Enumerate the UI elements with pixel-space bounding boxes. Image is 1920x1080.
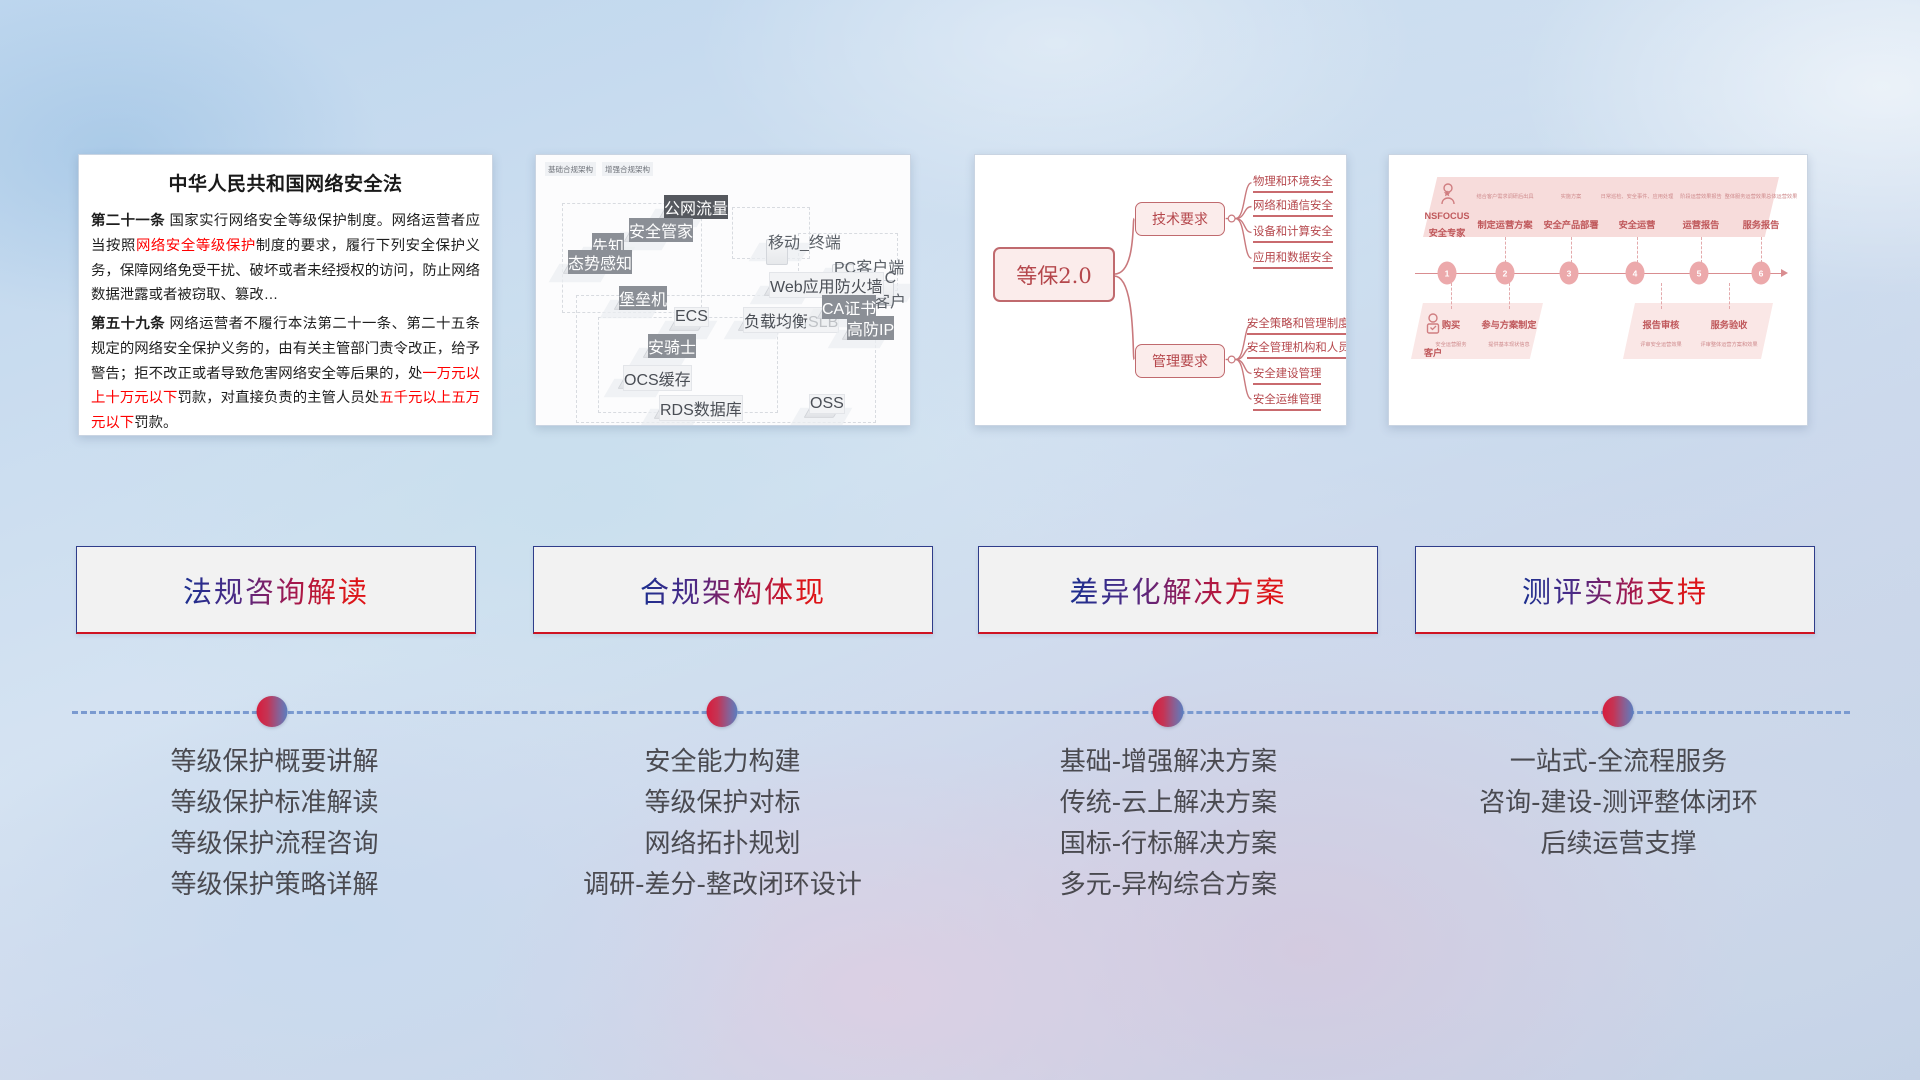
- architecture-canvas: 公网流量安全管家先知态势感知堡垒机移动_终端PC客户端PC客户端Web应用防火墙…: [536, 155, 910, 425]
- timeline-dashed-line: [72, 711, 1850, 714]
- mindmap-leaf[interactable]: 安全运维管理: [1253, 391, 1321, 411]
- section-heading-label: 合规架构体现: [640, 569, 826, 611]
- section-detail-list-2: 安全能力构建 等级保护对标 网络拓扑规划 调研-差分-整改闭环设计: [530, 742, 915, 906]
- mindmap-root-node[interactable]: 等保2.0: [993, 247, 1115, 302]
- timeline-dot-4[interactable]: [1603, 696, 1634, 727]
- law-body: 第二十一条 国家实行网络安全等级保护制度。网络运营者应当按照网络安全等级保护制度…: [79, 209, 492, 436]
- list-item: 咨询-建设-测评整体闭环: [1426, 783, 1811, 824]
- list-item: 一站式-全流程服务: [1426, 742, 1811, 783]
- architecture-node-label[interactable]: 高防IP: [847, 316, 894, 340]
- nsfocus-bottom-right-banner: [1623, 303, 1773, 359]
- timeline-arrow-icon: [1781, 269, 1788, 277]
- law-paragraph: 第五十九条 网络运营者不履行本法第二十一条、第二十五条规定的网络安全保护义务的，…: [91, 312, 480, 436]
- timeline-customer-step-title: 服务验收: [1711, 317, 1748, 331]
- law-paragraph: 第二十一条 国家实行网络安全等级保护制度。网络运营者应当按照网络安全等级保护制度…: [91, 209, 480, 308]
- section-heading-label: 法规咨询解读: [183, 569, 369, 611]
- timeline-step-subtitle: 阶段运营效果报告: [1680, 193, 1722, 200]
- architecture-node-label[interactable]: 公网流量: [664, 195, 728, 219]
- preview-cards-row: 中华人民共和国网络安全法 第二十一条 国家实行网络安全等级保护制度。网络运营者应…: [0, 154, 1920, 436]
- timeline-step-title: 安全运营: [1619, 217, 1656, 231]
- timeline-step-subtitle: 结合客户需求调研后出具: [1476, 193, 1533, 200]
- timeline-step-6[interactable]: 6: [1752, 262, 1771, 285]
- timeline-step-subtitle: 日常巡检、安全事件、应用处理: [1601, 193, 1674, 200]
- architecture-node-label[interactable]: OCS缓存: [623, 365, 692, 391]
- list-item: 等级保护流程咨询: [82, 824, 467, 865]
- list-item: 调研-差分-整改闭环设计: [530, 865, 915, 906]
- timeline-leader-line: [1505, 237, 1506, 263]
- mindmap-leaf[interactable]: 网络和通信安全: [1253, 197, 1333, 217]
- law-run-highlight: 网络安全等级保护: [136, 238, 256, 254]
- timeline-dot-3[interactable]: [1153, 696, 1184, 727]
- architecture-node-label[interactable]: 堡垒机: [619, 286, 667, 310]
- mindmap: 等保2.0 技术要求 管理要求 物理和环境安全 网络和通信安全 设备和计算安全 …: [975, 155, 1346, 425]
- law-title: 中华人民共和国网络安全法: [79, 169, 492, 196]
- timeline-leader-line: [1509, 283, 1510, 309]
- section-heading-label: 差异化解决方案: [1069, 569, 1286, 611]
- architecture-node-label[interactable]: 安骑士: [648, 334, 696, 358]
- card-dengbao-mindmap[interactable]: 等保2.0 技术要求 管理要求 物理和环境安全 网络和通信安全 设备和计算安全 …: [974, 154, 1347, 426]
- card-compliance-architecture[interactable]: 基础合规架构 增强合规架构 公网流量安全管家先知态势感知堡垒机移动_终端PC客户…: [535, 154, 911, 426]
- section-heading-label: 测评实施支持: [1522, 569, 1708, 611]
- section-detail-list-4: 一站式-全流程服务 咨询-建设-测评整体闭环 后续运营支撑: [1426, 742, 1811, 865]
- timeline-customer-step-subtitle: 评审整体运营方案和效果: [1700, 341, 1757, 348]
- architecture-node-label[interactable]: OSS: [809, 394, 845, 414]
- timeline-step-title: 安全产品部署: [1543, 217, 1598, 231]
- timeline-step-4[interactable]: 4: [1626, 262, 1645, 285]
- timeline-step-1[interactable]: 1: [1438, 262, 1457, 285]
- list-item: 传统-云上解决方案: [976, 783, 1361, 824]
- section-detail-list-1: 等级保护概要讲解 等级保护标准解读 等级保护流程咨询 等级保护策略详解: [82, 742, 467, 906]
- timeline-leader-line: [1637, 237, 1638, 263]
- timeline-step-title: 运营报告: [1683, 217, 1720, 231]
- timeline: [0, 694, 1920, 730]
- timeline-leader-line: [1451, 283, 1452, 309]
- list-item: 基础-增强解决方案: [976, 742, 1361, 783]
- architecture-node-label[interactable]: 态势感知: [568, 250, 632, 274]
- mindmap-leaf[interactable]: 安全策略和管理制度: [1247, 315, 1347, 335]
- section-heading-box-4[interactable]: 测评实施支持: [1415, 546, 1815, 634]
- card-nsfocus-service-timeline[interactable]: NSFOCUS 安全专家 客户 123456制定运营方案结合客户需求调研后出具安…: [1388, 154, 1808, 426]
- nsfocus-brand-sub: 安全专家: [1429, 225, 1466, 239]
- customer-person-icon: [1425, 313, 1441, 337]
- timeline-customer-step-title: 参与方案制定: [1481, 317, 1536, 331]
- timeline-axis: [1415, 273, 1783, 274]
- timeline-step-title: 制定运营方案: [1477, 217, 1532, 231]
- timeline-customer-step-title: 报告审核: [1643, 317, 1680, 331]
- timeline-customer-step-subtitle: 安全运营服务: [1435, 341, 1466, 348]
- section-detail-list-3: 基础-增强解决方案 传统-云上解决方案 国标-行标解决方案 多元-异构综合方案: [976, 742, 1361, 906]
- nsfocus-timeline: NSFOCUS 安全专家 客户 123456制定运营方案结合客户需求调研后出具安…: [1389, 155, 1807, 425]
- mindmap-branch-management[interactable]: 管理要求: [1135, 344, 1225, 378]
- list-item: 网络拓扑规划: [530, 824, 915, 865]
- expert-person-icon: [1439, 183, 1457, 205]
- law-run: 罚款，对直接负责的主管人员处: [177, 390, 379, 406]
- law-article-number: 第五十九条: [91, 316, 165, 332]
- mindmap-leaf[interactable]: 安全管理机构和人员: [1247, 339, 1347, 359]
- nsfocus-top-banner: [1423, 177, 1779, 237]
- list-item: 等级保护概要讲解: [82, 742, 467, 783]
- timeline-step-5[interactable]: 5: [1690, 262, 1709, 285]
- mindmap-branch-technical[interactable]: 技术要求: [1135, 202, 1225, 236]
- list-item: 等级保护对标: [530, 783, 915, 824]
- architecture-node-label[interactable]: 移动_终端: [768, 229, 841, 253]
- timeline-leader-line: [1571, 237, 1572, 263]
- timeline-customer-step-subtitle: 提供基本现状信息: [1488, 341, 1530, 348]
- timeline-leader-line: [1729, 283, 1730, 309]
- timeline-step-3[interactable]: 3: [1560, 262, 1579, 285]
- mindmap-leaf[interactable]: 应用和数据安全: [1253, 249, 1333, 269]
- timeline-step-subtitle: 实施方案: [1561, 193, 1582, 200]
- list-item: 国标-行标解决方案: [976, 824, 1361, 865]
- timeline-dot-1[interactable]: [257, 696, 288, 727]
- law-run: 罚款。: [134, 415, 177, 431]
- nsfocus-brand: NSFOCUS: [1425, 211, 1470, 221]
- section-heading-box-3[interactable]: 差异化解决方案: [978, 546, 1378, 634]
- list-item: 等级保护标准解读: [82, 783, 467, 824]
- timeline-step-title: 服务报告: [1743, 217, 1780, 231]
- architecture-node-label[interactable]: RDS数据库: [659, 395, 743, 421]
- architecture-node-label[interactable]: 安全管家: [629, 218, 693, 242]
- list-item: 多元-异构综合方案: [976, 865, 1361, 906]
- timeline-leader-line: [1761, 237, 1762, 263]
- mindmap-leaf[interactable]: 设备和计算安全: [1253, 223, 1333, 243]
- section-heading-box-2[interactable]: 合规架构体现: [533, 546, 933, 634]
- mindmap-leaf[interactable]: 安全建设管理: [1253, 365, 1321, 385]
- timeline-step-2[interactable]: 2: [1496, 262, 1515, 285]
- architecture-diagram: 基础合规架构 增强合规架构 公网流量安全管家先知态势感知堡垒机移动_终端PC客户…: [536, 155, 910, 425]
- timeline-customer-step-subtitle: 评审安全运营效果: [1640, 341, 1682, 348]
- mindmap-leaf[interactable]: 物理和环境安全: [1253, 173, 1333, 193]
- law-article-number: 第二十一条: [91, 213, 165, 229]
- timeline-customer-step-title: 购买: [1442, 317, 1460, 331]
- card-cybersecurity-law[interactable]: 中华人民共和国网络安全法 第二十一条 国家实行网络安全等级保护制度。网络运营者应…: [78, 154, 493, 436]
- list-item: 等级保护策略详解: [82, 865, 467, 906]
- list-item: 后续运营支撑: [1426, 824, 1811, 865]
- timeline-leader-line: [1701, 237, 1702, 263]
- list-item: 安全能力构建: [530, 742, 915, 783]
- timeline-leader-line: [1661, 283, 1662, 309]
- timeline-dot-2[interactable]: [707, 696, 738, 727]
- section-heading-box-1[interactable]: 法规咨询解读: [76, 546, 476, 634]
- timeline-step-subtitle: 整体服务运营效果总体运营效果: [1725, 193, 1798, 200]
- architecture-node-label[interactable]: ECS: [674, 307, 709, 327]
